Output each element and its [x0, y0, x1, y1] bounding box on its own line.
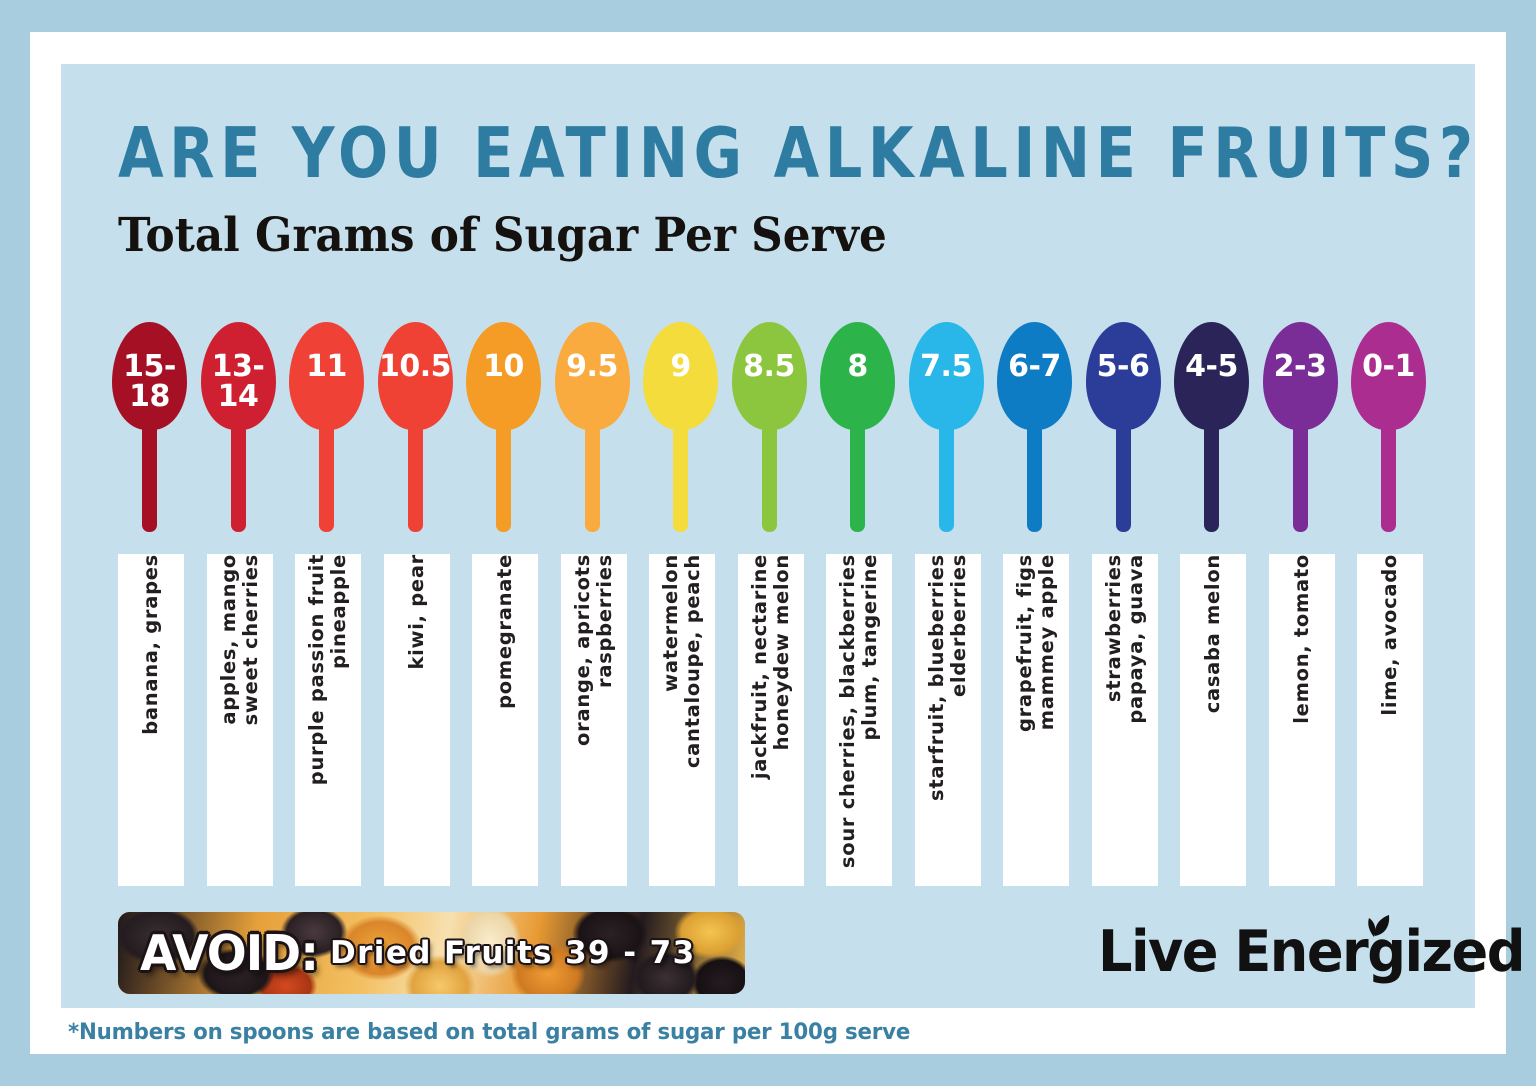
spoon-chart: 15-1813-141110.5109.598.587.56-75-64-52-… — [112, 322, 1442, 532]
infographic-poster: ARE YOU EATING ALKALINE FRUITS? Total Gr… — [0, 0, 1536, 1086]
spoon-value-label: 8 — [811, 352, 904, 382]
spoon-5: 10 — [466, 322, 541, 532]
footnote: *Numbers on spoons are based on total gr… — [68, 1020, 910, 1045]
spoon-13: 4-5 — [1174, 322, 1249, 532]
spoon-value-label: 0-1 — [1342, 352, 1435, 382]
fruit-label-card: orange, apricots raspberries — [561, 554, 627, 886]
fruit-label-row: banana, grapesapples, mango sweet cherri… — [118, 554, 1438, 886]
spoon-3: 11 — [289, 322, 364, 532]
fruit-label-card: starfruit, blueberries elderberries — [915, 554, 981, 886]
avoid-label: AVOID: — [140, 924, 318, 982]
spoon-value-label: 11 — [280, 352, 373, 382]
fruit-label-text: casaba melon — [1202, 554, 1224, 713]
spoon-value-label: 6-7 — [988, 352, 1081, 382]
fruit-label-card: strawberries papaya, guava — [1092, 554, 1158, 886]
spoon-9: 8 — [820, 322, 895, 532]
fruit-label-card: pomegranate — [472, 554, 538, 886]
fruit-label-text: grapefruit, figs mammey apple — [1014, 554, 1058, 732]
spoon-7: 9 — [643, 322, 718, 532]
spoon-4: 10.5 — [378, 322, 453, 532]
fruit-label-text: apples, mango sweet cherries — [217, 554, 261, 725]
spoon-value-label: 7.5 — [900, 352, 993, 382]
spoon-6: 9.5 — [555, 322, 630, 532]
fruit-label-text: banana, grapes — [140, 554, 162, 735]
spoon-value-label: 10.5 — [369, 352, 462, 382]
spoon-2: 13-14 — [201, 322, 276, 532]
fruit-label-text: starfruit, blueberries elderberries — [925, 554, 969, 801]
fruit-label-card: kiwi, pear — [384, 554, 450, 886]
avoid-detail-label: Dried Fruits 39 - 73 — [330, 935, 696, 971]
page-title: ARE YOU EATING ALKALINE FRUITS? — [118, 112, 1479, 193]
fruit-label-text: sour cherries, blackberries plum, tanger… — [837, 554, 881, 868]
fruit-label-text: jackfruit, nectarine honeydew melon — [748, 554, 792, 779]
fruit-label-text: lemon, tomato — [1290, 554, 1312, 724]
spoon-14: 2-3 — [1263, 322, 1338, 532]
fruit-label-card: banana, grapes — [118, 554, 184, 886]
avoid-banner: AVOID: Dried Fruits 39 - 73 — [118, 912, 745, 994]
avoid-banner-text: AVOID: Dried Fruits 39 - 73 — [118, 912, 745, 994]
spoon-8: 8.5 — [732, 322, 807, 532]
fruit-label-text: orange, apricots raspberries — [571, 554, 615, 746]
fruit-label-card: casaba melon — [1180, 554, 1246, 886]
fruit-label-card: lime, avocado — [1357, 554, 1423, 886]
brand-logo-text: Live Energized — [1098, 919, 1524, 985]
fruit-label-card: grapefruit, figs mammey apple — [1003, 554, 1069, 886]
fruit-label-card: apples, mango sweet cherries — [207, 554, 273, 886]
fruit-label-card: purple passion fruit pineapple — [295, 554, 361, 886]
spoon-15: 0-1 — [1351, 322, 1426, 532]
spoon-value-label: 13-14 — [192, 352, 285, 412]
spoon-value-label: 4-5 — [1165, 352, 1258, 382]
spoon-value-label: 10 — [457, 352, 550, 382]
fruit-label-card: watermelon cantaloupe, peach — [649, 554, 715, 886]
spoon-12: 5-6 — [1086, 322, 1161, 532]
spoon-1: 15-18 — [112, 322, 187, 532]
spoon-value-label: 5-6 — [1077, 352, 1170, 382]
fruit-label-text: watermelon cantaloupe, peach — [660, 554, 704, 768]
fruit-label-card: lemon, tomato — [1269, 554, 1335, 886]
fruit-label-card: sour cherries, blackberries plum, tanger… — [826, 554, 892, 886]
brand-logo: Live Energized — [1098, 916, 1536, 988]
spoon-10: 7.5 — [909, 322, 984, 532]
fruit-label-text: strawberries papaya, guava — [1102, 554, 1146, 724]
spoon-11: 6-7 — [997, 322, 1072, 532]
fruit-label-text: lime, avocado — [1379, 554, 1401, 716]
fruit-label-text: kiwi, pear — [405, 554, 427, 670]
spoon-value-label: 9.5 — [546, 352, 639, 382]
spoon-value-label: 2-3 — [1254, 352, 1347, 382]
fruit-label-card: jackfruit, nectarine honeydew melon — [738, 554, 804, 886]
spoon-value-label: 8.5 — [723, 352, 816, 382]
fruit-label-text: pomegranate — [494, 554, 516, 709]
spoon-value-label: 9 — [634, 352, 727, 382]
fruit-label-text: purple passion fruit pineapple — [306, 554, 350, 785]
page-subtitle: Total Grams of Sugar Per Serve — [118, 208, 887, 263]
leaf-icon — [1355, 912, 1395, 942]
spoon-value-label: 15-18 — [103, 352, 196, 412]
